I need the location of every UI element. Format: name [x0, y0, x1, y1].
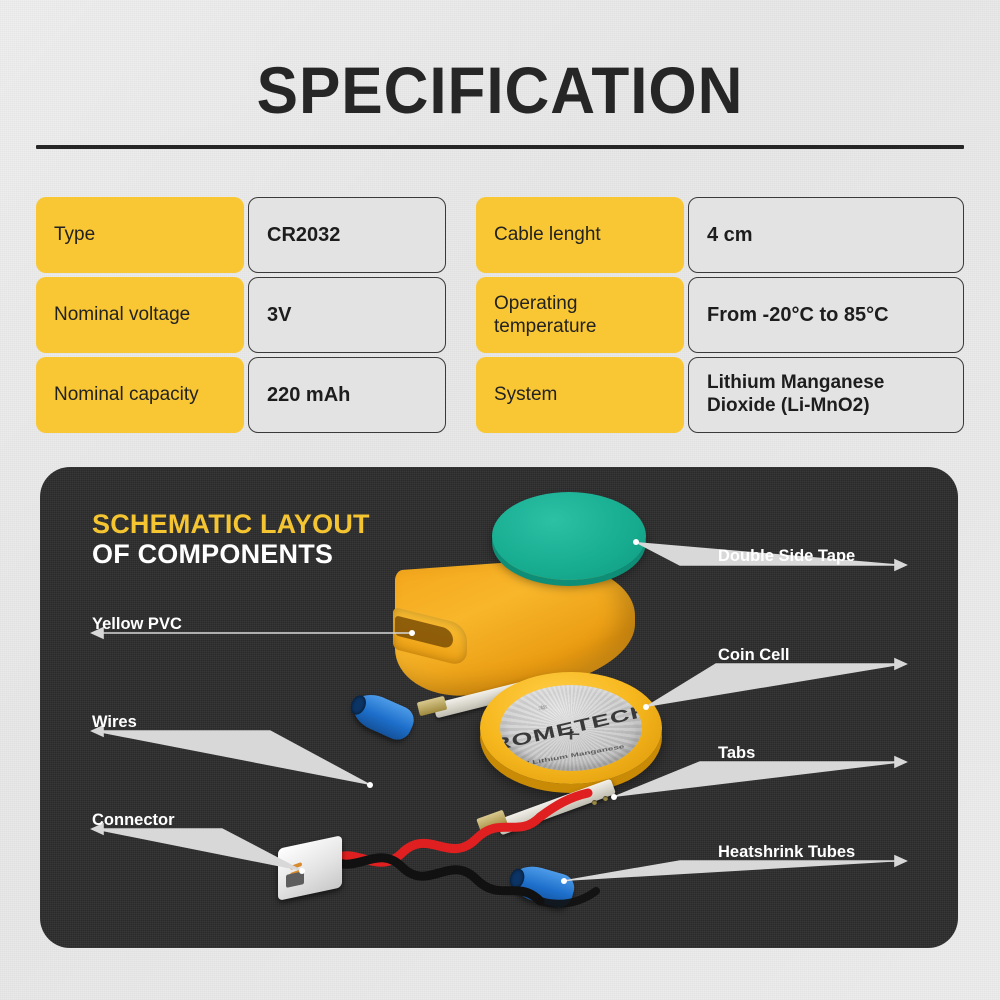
heatshrink-tube-upper	[348, 688, 418, 744]
coin-cell-polarity: +	[561, 723, 581, 747]
connector-body	[278, 835, 342, 901]
heatshrink-tube-bore	[348, 693, 369, 717]
grid-gap	[446, 197, 476, 273]
spec-key-nominal-capacity: Nominal capacity	[36, 357, 244, 433]
metal-tab-lower-hole	[592, 800, 597, 805]
double-side-tape-disc	[492, 492, 646, 580]
callout-label-connector: Connector	[92, 811, 175, 830]
callout-label-coin-cell: Coin Cell	[718, 646, 790, 665]
spec-key-type: Type	[36, 197, 244, 273]
spec-value-system: Lithium Manganese Dioxide (Li-MnO2)	[688, 357, 964, 433]
spec-value-operating-temperature: From -20°C to 85°C	[688, 277, 964, 353]
callout-label-double-side-tape: Double Side Tape	[718, 547, 855, 566]
callout-label-yellow-pvc: Yellow PVC	[92, 615, 182, 634]
coin-cell-face: ⚛ ROMETECH + 3V Lithium Manganese	[500, 685, 642, 771]
coin-cell-mark: ⚛	[536, 703, 549, 715]
coin-cell: ⚛ ROMETECH + 3V Lithium Manganese	[480, 672, 662, 784]
spec-key-system: System	[476, 357, 684, 433]
callout-label-heatshrink-tubes: Heatshrink Tubes	[718, 843, 855, 862]
spec-value-type: CR2032	[248, 197, 446, 273]
specification-table: Type CR2032 Cable lenght 4 cm Nominal vo…	[36, 197, 964, 433]
pvc-opening-inner	[395, 615, 453, 649]
callout-label-wires: Wires	[92, 713, 137, 732]
heatshrink-tube-bore	[508, 867, 527, 890]
metal-tab-lower-hole	[603, 796, 608, 801]
product-illustration: ⚛ ROMETECH + 3V Lithium Manganese	[40, 467, 958, 948]
heatshrink-tube-lower	[509, 861, 578, 911]
page-title: SPECIFICATION	[30, 52, 970, 128]
metal-tab-lower	[496, 779, 616, 836]
spec-key-operating-temperature: Operating temperature	[476, 277, 684, 353]
spec-value-nominal-capacity: 220 mAh	[248, 357, 446, 433]
grid-gap	[446, 357, 476, 433]
callout-label-tabs: Tabs	[718, 744, 755, 763]
title-divider	[36, 145, 964, 149]
jst-connector	[278, 842, 342, 894]
schematic-panel: SCHEMATIC LAYOUT OF COMPONENTS ⚛ ROMETEC…	[40, 467, 958, 948]
spec-key-nominal-voltage: Nominal voltage	[36, 277, 244, 353]
spec-key-cable-length: Cable lenght	[476, 197, 684, 273]
grid-gap	[446, 277, 476, 353]
spec-value-cable-length: 4 cm	[688, 197, 964, 273]
spec-value-nominal-voltage: 3V	[248, 277, 446, 353]
